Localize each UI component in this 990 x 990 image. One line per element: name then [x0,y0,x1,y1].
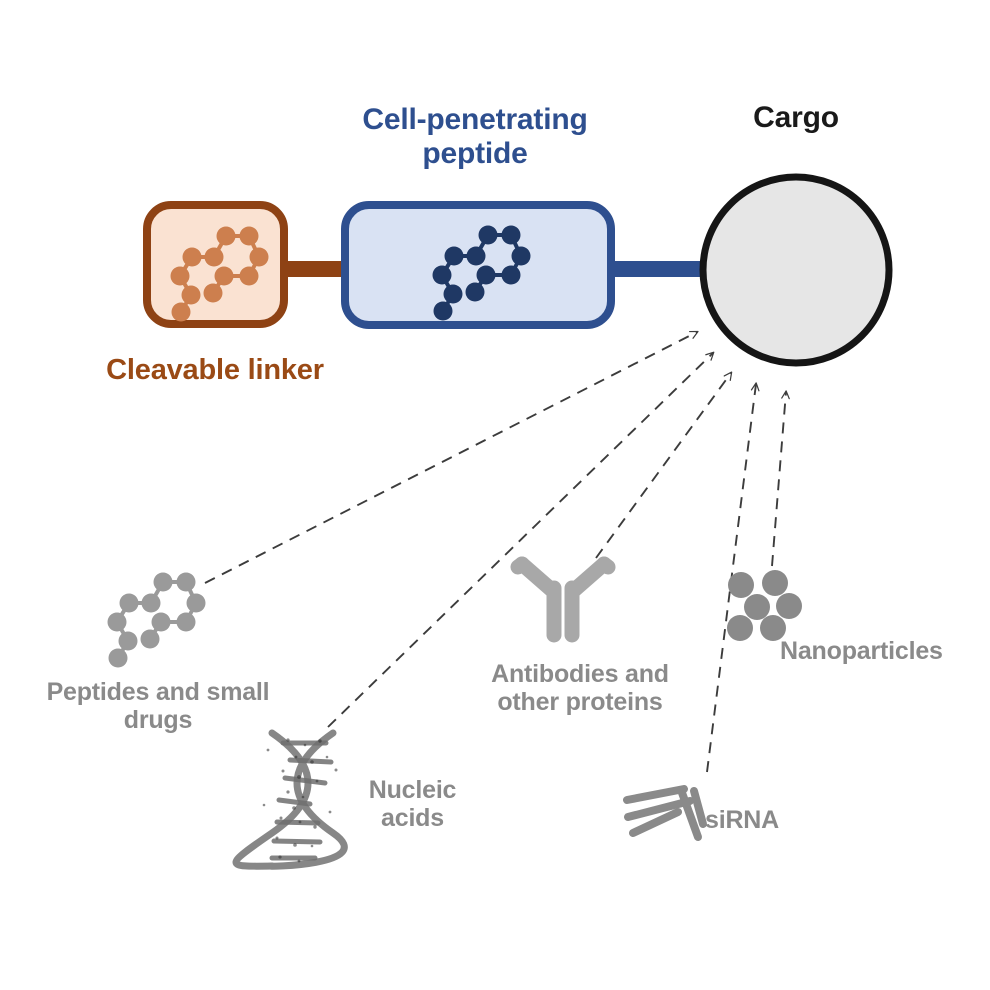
nanoparticle-cluster-icon [727,570,802,641]
nanoparticles-label: Nanoparticles [780,637,990,665]
dna-helix-icon [236,733,344,866]
arrow-nanoparticles-to-cargo [772,392,786,566]
figure-canvas: Cell-penetrating peptide Cargo Cleavable… [0,0,990,990]
cell-penetrating-peptide-label: Cell-penetrating peptide [325,103,625,170]
connector-cpp-to-cargo [600,261,708,277]
antibodies-and-other-proteins-label: Antibodies and other proteins [450,660,710,716]
cargo-label: Cargo [700,101,892,135]
peptides-and-small-drugs-label: Peptides and small drugs [8,678,308,734]
arrow-antibodies-to-cargo [596,373,731,558]
cleavable-linker-module[interactable] [147,205,284,324]
cell-penetrating-peptide-module[interactable] [345,205,611,325]
sirna-label: siRNA [705,806,825,834]
antibody-icon [518,564,608,635]
cargo-sphere[interactable] [703,177,889,363]
peptide-chain-icon [108,573,206,668]
cleavable-linker-label: Cleavable linker [45,354,385,386]
nucleic-acids-label: Nucleic acids [340,776,485,832]
sirna-strands-icon [627,789,703,837]
